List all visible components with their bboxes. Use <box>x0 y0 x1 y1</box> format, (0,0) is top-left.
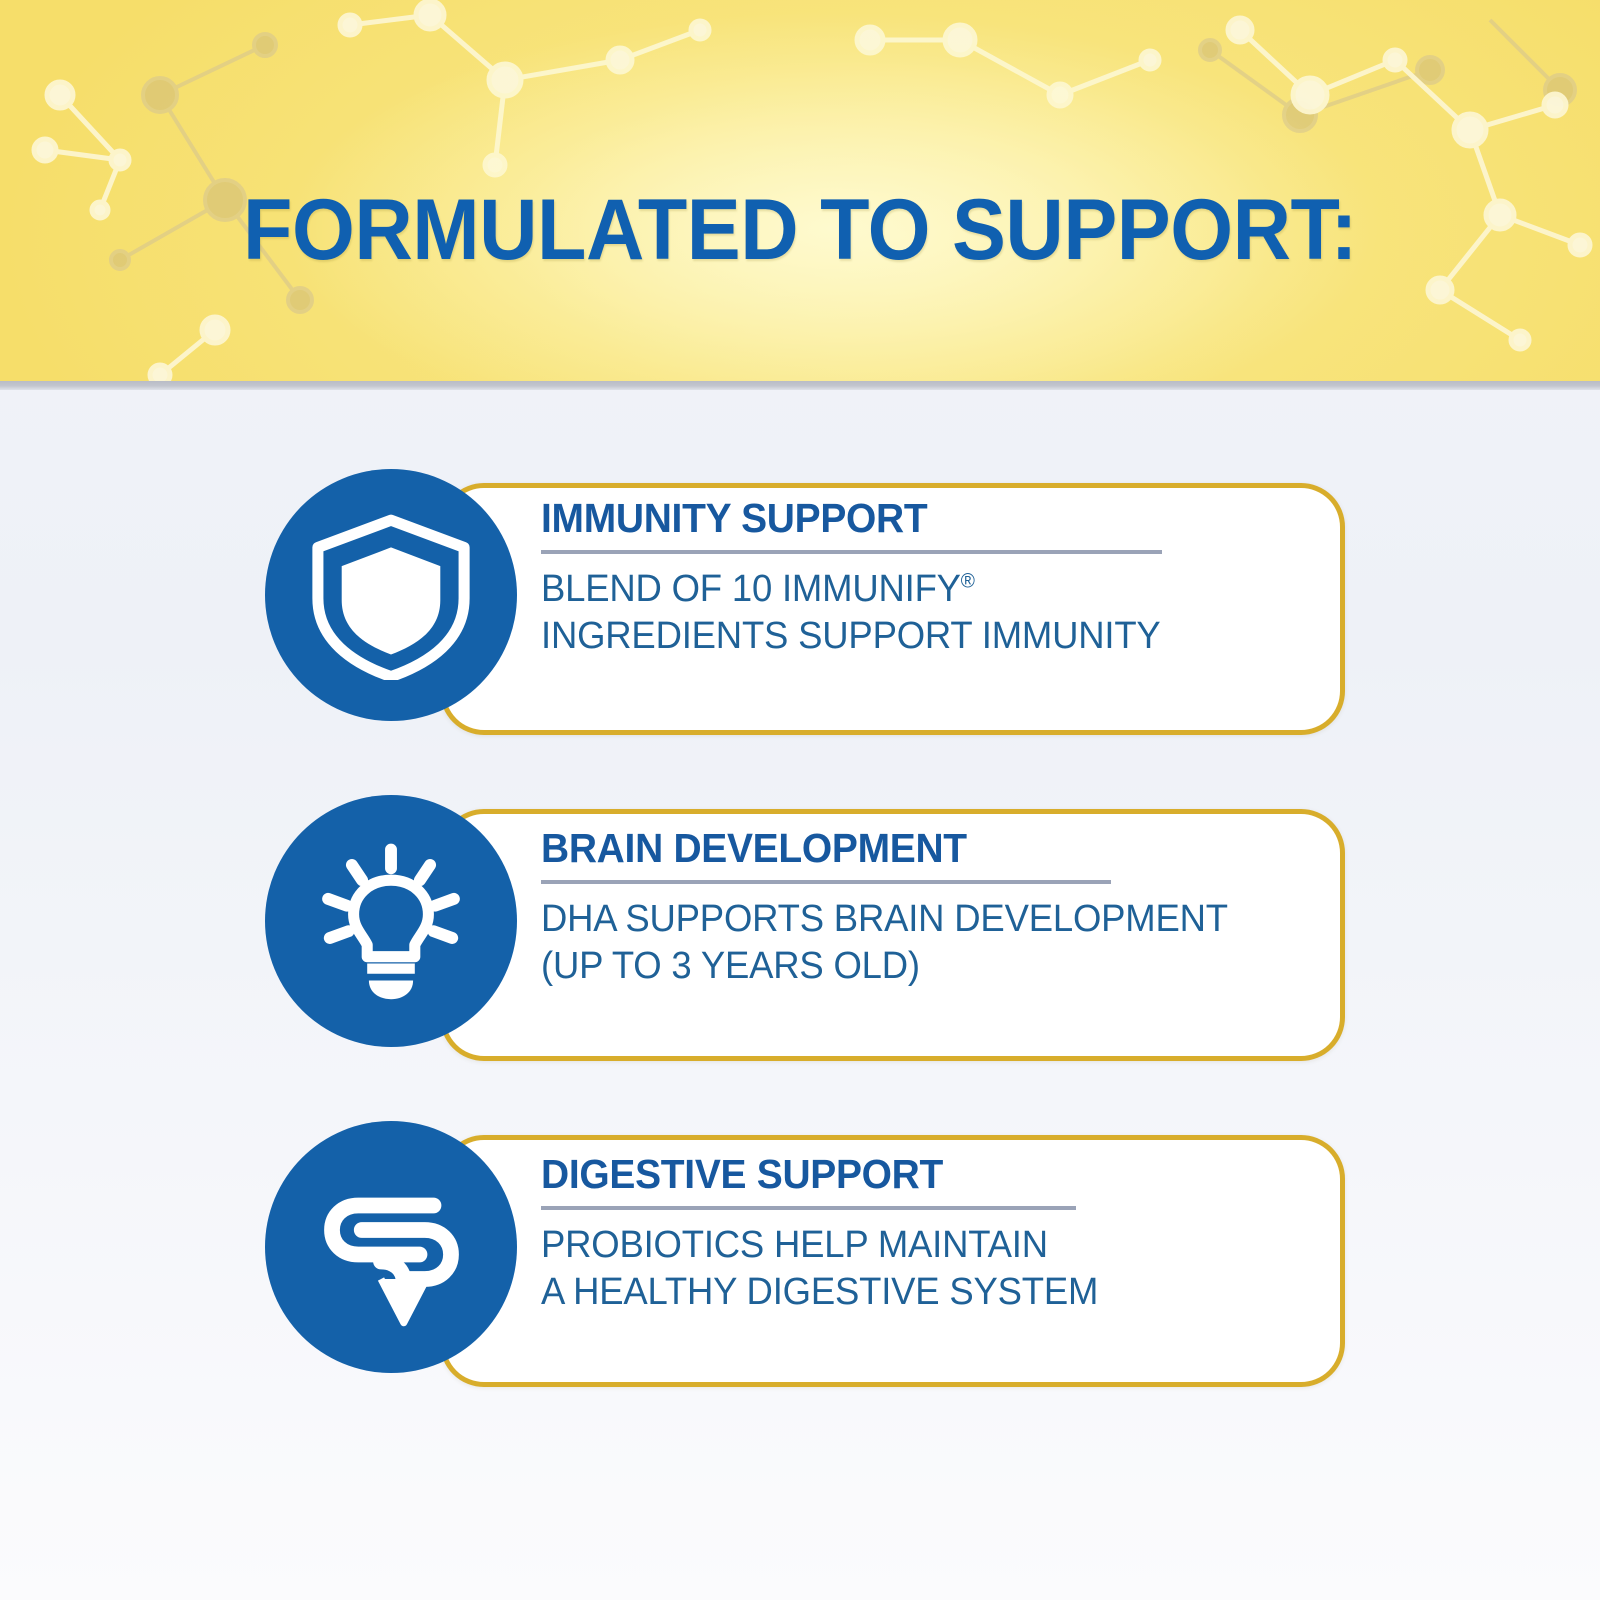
lightbulb-icon <box>265 795 517 1047</box>
infographic-page: FORMULATED TO SUPPORT: IMMUNITY SUPPORT … <box>0 0 1600 1600</box>
card-divider-rule <box>541 1206 1076 1210</box>
card-heading: DIGESTIVE SUPPORT <box>541 1151 1301 1197</box>
card-body-line-1: BLEND OF 10 IMMUNIFY® <box>541 566 1309 613</box>
shield-icon <box>265 469 517 721</box>
card-body-line-2: A HEALTHY DIGESTIVE SYSTEM <box>541 1269 1309 1316</box>
card-text-block: DIGESTIVE SUPPORT PROBIOTICS HELP MAINTA… <box>541 1151 1341 1316</box>
card-heading: BRAIN DEVELOPMENT <box>541 825 1301 871</box>
header-banner: FORMULATED TO SUPPORT: <box>0 0 1600 381</box>
card-body-line-1: DHA SUPPORTS BRAIN DEVELOPMENT <box>541 896 1309 943</box>
card-divider-rule <box>541 550 1162 554</box>
card-text-block: IMMUNITY SUPPORT BLEND OF 10 IMMUNIFY® I… <box>541 495 1341 660</box>
page-title: FORMULATED TO SUPPORT: <box>48 182 1552 278</box>
card-heading: IMMUNITY SUPPORT <box>541 495 1301 541</box>
banner-divider <box>0 381 1600 390</box>
card-body-line-2: INGREDIENTS SUPPORT IMMUNITY <box>541 613 1309 660</box>
card-divider-rule <box>541 880 1111 884</box>
benefit-card-list: IMMUNITY SUPPORT BLEND OF 10 IMMUNIFY® I… <box>0 455 1600 1433</box>
card-body-line-1: PROBIOTICS HELP MAINTAIN <box>541 1222 1309 1269</box>
card-text-block: BRAIN DEVELOPMENT DHA SUPPORTS BRAIN DEV… <box>541 825 1341 990</box>
benefit-card-brain: BRAIN DEVELOPMENT DHA SUPPORTS BRAIN DEV… <box>0 781 1600 1071</box>
intestine-icon <box>265 1121 517 1373</box>
benefit-card-digestive: DIGESTIVE SUPPORT PROBIOTICS HELP MAINTA… <box>0 1107 1600 1397</box>
registered-mark: ® <box>961 570 975 592</box>
card-body-text: BLEND OF 10 IMMUNIFY <box>541 568 961 610</box>
card-body-line-2: (UP TO 3 YEARS OLD) <box>541 943 1309 990</box>
benefit-card-immunity: IMMUNITY SUPPORT BLEND OF 10 IMMUNIFY® I… <box>0 455 1600 745</box>
